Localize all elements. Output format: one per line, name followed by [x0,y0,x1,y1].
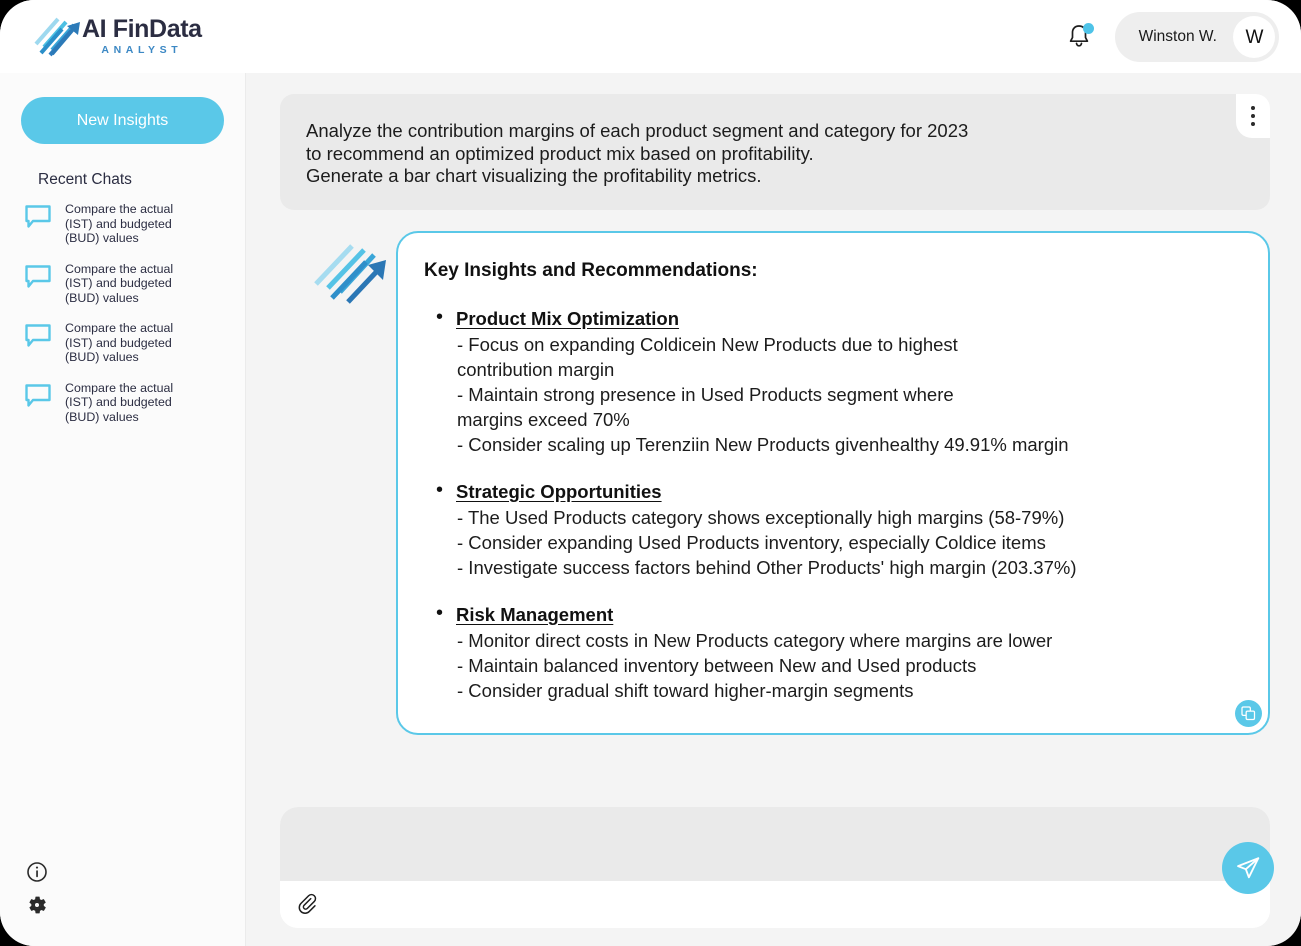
chat-bubble-icon [24,383,52,409]
paperclip-icon[interactable] [298,893,318,917]
gear-icon[interactable] [26,894,48,916]
response-section-title: Risk Management [456,604,613,626]
avatar-initials-icon: W [1240,27,1268,47]
recent-chats-list: Compare the actual (IST) and budgeted (B… [0,199,245,427]
sidebar-chat-item-4[interactable]: Compare the actual (IST) and budgeted (B… [24,378,235,428]
sidebar-chat-item-2[interactable]: Compare the actual (IST) and budgeted (B… [24,259,235,309]
main-content: Analyze the contribution margins of each… [246,73,1301,946]
send-button[interactable] [1222,842,1274,894]
info-icon[interactable] [26,861,48,883]
user-prompt-text: Analyze the contribution margins of each… [306,120,1210,188]
response-heading: Key Insights and Recommendations: [424,260,1240,282]
brand-logo[interactable]: AI FinData ANALYST [28,14,202,60]
avatar: W [1233,16,1275,58]
upward-trend-lines-logo-icon [28,14,86,60]
response-section-title: Product Mix Optimization [456,308,679,330]
sidebar-chat-label: Compare the actual (IST) and budgeted (B… [65,202,173,246]
assistant-response-row: Key Insights and Recommendations: Produc… [280,231,1270,735]
copy-icon [1241,706,1256,721]
brand-subtitle: ANALYST [82,45,202,56]
sidebar-chat-item-1[interactable]: Compare the actual (IST) and budgeted (B… [24,199,235,249]
user-name: Winston W. [1139,28,1217,46]
brand-title: AI FinData [82,17,202,42]
notifications-button[interactable] [1067,23,1093,51]
notification-badge [1083,23,1094,34]
response-section-bullets: - The Used Products category shows excep… [456,505,1240,580]
sidebar-chat-label: Compare the actual (IST) and budgeted (B… [65,381,173,425]
copy-response-button[interactable] [1235,700,1262,727]
sidebar-footer [0,861,245,946]
message-input[interactable] [280,807,1270,881]
response-sections: Product Mix Optimization - Focus on expa… [424,308,1240,703]
app-header: AI FinData ANALYST Winston W. W [0,0,1301,73]
brand-text: AI FinData ANALYST [82,17,202,56]
app-window: AI FinData ANALYST Winston W. W [0,0,1301,946]
app-body: New Insights Recent Chats Compare the ac… [0,73,1301,946]
ai-logo-arrow-icon [306,240,396,310]
new-insights-button[interactable]: New Insights [21,97,224,144]
recent-chats-heading: Recent Chats [38,171,245,189]
sidebar-chat-label: Compare the actual (IST) and budgeted (B… [65,262,173,306]
response-section-risk-management: Risk Management - Monitor direct costs i… [456,604,1240,703]
assistant-response-card: Key Insights and Recommendations: Produc… [396,231,1270,735]
chat-bubble-icon [24,204,52,230]
message-composer [280,807,1270,928]
composer-toolbar [280,881,1270,928]
response-section-strategic-opportunities: Strategic Opportunities - The Used Produ… [456,481,1240,580]
response-section-title: Strategic Opportunities [456,481,662,503]
sidebar: New Insights Recent Chats Compare the ac… [0,73,246,946]
chat-bubble-icon [24,323,52,349]
sidebar-chat-item-3[interactable]: Compare the actual (IST) and budgeted (B… [24,318,235,368]
kebab-menu-icon[interactable] [1236,94,1270,138]
sidebar-chat-label: Compare the actual (IST) and budgeted (B… [65,321,173,365]
chat-bubble-icon [24,264,52,290]
response-section-product-mix-optimization: Product Mix Optimization - Focus on expa… [456,308,1240,457]
response-section-bullets: - Monitor direct costs in New Products c… [456,628,1240,703]
response-section-bullets: - Focus on expanding Coldicein New Produ… [456,332,1240,457]
header-actions: Winston W. W [1067,12,1279,62]
main-spacer [280,735,1270,808]
user-prompt-card: Analyze the contribution margins of each… [280,94,1270,210]
svg-text:W: W [1246,27,1264,47]
user-menu[interactable]: Winston W. W [1115,12,1279,62]
send-paper-plane-icon [1235,855,1261,881]
sidebar-spacer [0,427,245,861]
